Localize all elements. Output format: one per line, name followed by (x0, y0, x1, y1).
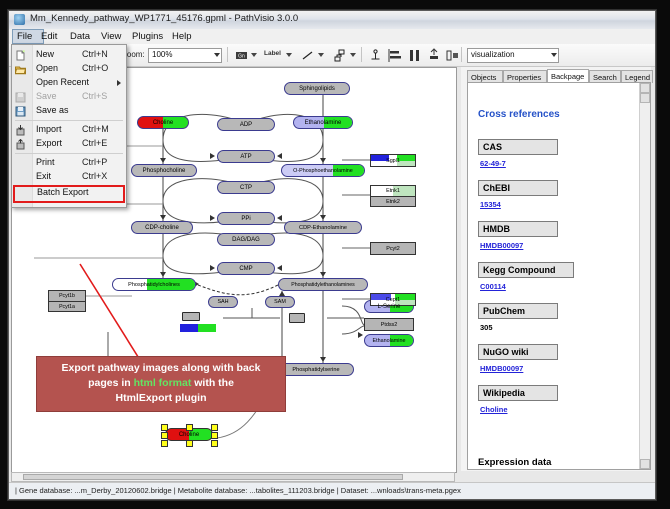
arrowhead (320, 215, 326, 220)
datanode-dropdown-arrow[interactable] (251, 53, 257, 57)
arrowhead (320, 357, 326, 362)
export-icon (15, 139, 26, 150)
canvas-hscroll-thumb[interactable] (23, 474, 403, 480)
menu-label: Exit (36, 171, 51, 181)
node-choline[interactable]: Choline (137, 116, 189, 129)
shape-dropdown-arrow[interactable] (350, 53, 356, 57)
arrowhead (160, 215, 166, 220)
menu-item-save-as[interactable]: Save as (12, 104, 126, 118)
arrowhead (210, 215, 215, 221)
arrowhead (277, 215, 282, 221)
zoom-select[interactable]: 100% (148, 48, 222, 63)
xref-label-nugo: NuGO wiki (478, 344, 558, 360)
menu-edit[interactable]: Edit (37, 30, 61, 43)
node-cmp[interactable]: CMP (217, 262, 275, 275)
menu-shortcut: Ctrl+O (82, 63, 108, 73)
callout-line2-a: pages in (88, 377, 134, 389)
arrowhead (320, 158, 326, 163)
line-dropdown-arrow[interactable] (318, 53, 324, 57)
selection-handle[interactable] (211, 432, 218, 439)
visualization-value: visualization (471, 50, 515, 59)
menu-item-save: Save Ctrl+S (12, 90, 126, 104)
menu-shortcut: Ctrl+S (82, 91, 107, 101)
menu-item-open-recent[interactable]: Open Recent (12, 76, 126, 90)
node-choline-selected[interactable]: Choline (165, 428, 213, 441)
zoom-value: 100% (152, 50, 172, 59)
node-atp[interactable]: ATP (217, 150, 275, 163)
window-titlebar: Mm_Kennedy_pathway_WP1771_45176.gpml - P… (9, 11, 655, 30)
xref-value-pubchem: 305 (480, 323, 493, 332)
node-phosphatidylethanolamines[interactable]: Phosphatidylethanolamines (278, 278, 368, 291)
menu-shortcut: Ctrl+P (82, 157, 107, 167)
menu-label: Open (36, 63, 58, 73)
window-title: Mm_Kennedy_pathway_WP1771_45176.gpml - P… (30, 13, 298, 24)
selection-handle[interactable] (186, 440, 193, 447)
group-icon[interactable] (444, 47, 461, 64)
callout-text: Export pathway images along with back pa… (42, 361, 280, 406)
arrowhead (210, 153, 215, 159)
gene-ptdss2[interactable]: Ptdss2 (364, 318, 414, 331)
menu-label: Print (36, 157, 55, 167)
menu-plugins[interactable]: Plugins (128, 30, 167, 43)
tab-backpage[interactable]: Backpage (547, 69, 589, 83)
menu-separator (15, 153, 123, 154)
menu-shortcut: Ctrl+M (82, 124, 109, 134)
file-menu-popup[interactable]: New Ctrl+N Open Ctrl+O Open Recent Save … (11, 44, 127, 208)
node-phosphatidylserine[interactable]: Phosphatidylserine (278, 363, 354, 376)
label-dropdown-arrow[interactable] (286, 53, 292, 57)
backpage-scrollbar[interactable] (639, 83, 650, 469)
align-center-icon[interactable] (406, 47, 423, 64)
node-ethanolamine[interactable]: Ethanolamine (293, 116, 353, 129)
arrowhead (210, 265, 215, 271)
selection-handle[interactable] (211, 440, 218, 447)
arrowhead (160, 272, 166, 277)
anchor-icon[interactable] (367, 47, 384, 64)
callout-line1: Export pathway images along with back (62, 362, 261, 374)
shape-icon[interactable] (331, 47, 348, 64)
xref-label-pubchem: PubChem (478, 303, 558, 319)
xref-value-kegg[interactable]: C00114 (480, 282, 506, 291)
folder-open-icon (15, 64, 26, 75)
selection-handle[interactable] (161, 432, 168, 439)
xref-value-cas[interactable]: 62-49-7 (480, 159, 506, 168)
node-dag[interactable]: DAG/DAG (217, 233, 275, 246)
gene-etnk2[interactable]: Etnk2 (370, 196, 416, 207)
node-sam[interactable]: SAM (265, 296, 295, 308)
xref-value-wikipedia[interactable]: Choline (480, 405, 508, 414)
gene-pcyt2[interactable]: Pcyt2 (370, 242, 416, 255)
menu-label: Open Recent (36, 77, 89, 87)
annotation-callout: Export pathway images along with back pa… (36, 356, 286, 412)
menu-view[interactable]: View (97, 30, 125, 43)
import-icon (15, 125, 26, 136)
xref-value-chebi[interactable]: 15354 (480, 200, 501, 209)
callout-line2-highlight: html format (134, 377, 192, 389)
node-ppi[interactable]: PPi (217, 212, 275, 225)
align-left-icon[interactable] (387, 47, 404, 64)
xref-label-hmdb: HMDB (478, 221, 558, 237)
menu-separator (15, 120, 123, 121)
arrowhead (160, 158, 166, 163)
menu-item-print[interactable]: Print Ctrl+P (12, 156, 126, 170)
node-adp[interactable]: ADP (217, 118, 275, 131)
statusbar-text: | Gene database: ...m_Derby_20120602.bri… (15, 486, 461, 495)
arrowhead (277, 153, 282, 159)
selection-handle[interactable] (161, 440, 168, 447)
gene-pcyt1b[interactable]: Pcyt1b (48, 290, 86, 301)
label-tool-label[interactable]: Label (264, 50, 281, 57)
selection-handle[interactable] (161, 424, 168, 431)
node-cdp-choline[interactable]: CDP-choline (131, 221, 193, 234)
xref-label-wikipedia: Wikipedia (478, 385, 558, 401)
chevron-down-icon (214, 53, 220, 57)
menu-shortcut: Ctrl+N (82, 49, 108, 59)
arrowhead (277, 265, 282, 271)
menu-data[interactable]: Data (66, 30, 94, 43)
node-sah[interactable]: SAH (208, 296, 238, 308)
menu-item-import[interactable]: Import Ctrl+M (12, 123, 126, 137)
node-ethanolamine-2[interactable]: Ethanolamine (364, 334, 414, 347)
scroll-up-button[interactable] (640, 83, 650, 93)
callout-line3: HtmlExport plugin (116, 392, 207, 404)
selection-handle[interactable] (186, 424, 193, 431)
chevron-right-icon (117, 80, 121, 86)
xref-value-hmdb[interactable]: HMDB00097 (480, 241, 523, 250)
visualization-select[interactable]: visualization (467, 48, 559, 63)
menu-label: New (36, 49, 54, 59)
xref-value-nugo[interactable]: HMDB00097 (480, 364, 523, 373)
menu-item-export[interactable]: Export Ctrl+E (12, 137, 126, 151)
screenshot-root: Mm_Kennedy_pathway_WP1771_45176.gpml - P… (0, 0, 670, 509)
node-sphingolipids[interactable]: Sphingolipids (284, 82, 350, 95)
menubar: File Edit Data View Plugins Help (9, 29, 655, 45)
menu-shortcut: Ctrl+E (82, 138, 107, 148)
svg-text:Gn: Gn (238, 54, 245, 60)
menu-item-open[interactable]: Open Ctrl+O (12, 62, 126, 76)
side-panel-tabs: Objects Properties Backpage Search Legen… (467, 69, 651, 83)
menu-shortcut: Ctrl+X (82, 171, 107, 181)
side-panel: Objects Properties Backpage Search Legen… (461, 67, 651, 471)
distribute-icon[interactable] (425, 47, 442, 64)
backpage-content: Cross references CAS 62-49-7 ChEBI 15354… (467, 82, 651, 470)
xref-label-cas: CAS (478, 139, 558, 155)
menu-label: Export (36, 138, 62, 148)
node-o-phosphoethanolamine[interactable]: O-Phosphoethanolamine (281, 164, 365, 177)
scroll-thumb[interactable] (640, 93, 650, 103)
node-phosphocholine[interactable]: Phosphocholine (131, 164, 197, 177)
menu-help[interactable]: Help (168, 30, 196, 43)
interaction-box (182, 312, 200, 321)
menu-item-new[interactable]: New Ctrl+N (12, 48, 126, 62)
node-ctp[interactable]: CTP (217, 181, 275, 194)
menu-item-exit[interactable]: Exit Ctrl+X (12, 170, 126, 184)
canvas-hscrollbar[interactable] (11, 472, 455, 482)
xref-label-chebi: ChEBI (478, 180, 558, 196)
menu-label: Import (36, 124, 62, 134)
arrowhead (320, 272, 326, 277)
expression-data-heading: Expression data (478, 457, 551, 468)
callout-line2-b: with the (191, 377, 234, 389)
pathvisio-icon (14, 14, 25, 25)
line-icon[interactable] (299, 47, 316, 64)
arrowhead (358, 332, 363, 338)
gene-sgpl1[interactable]: Sgpl1 (370, 154, 416, 167)
menu-label: Save as (36, 105, 69, 115)
xref-label-kegg: Kegg Compound (478, 262, 574, 278)
new-document-icon (15, 50, 26, 61)
selection-handle[interactable] (211, 424, 218, 431)
node-phosphatidylcholines[interactable]: Phosphatidylcholines (112, 278, 196, 291)
interaction-box (289, 313, 305, 323)
menu-item-batch-export[interactable]: Batch Export (13, 185, 125, 203)
expression-swatch (180, 324, 216, 332)
scroll-down-button[interactable] (640, 459, 650, 469)
menu-label: Batch Export (37, 187, 89, 197)
menu-label: Save (36, 91, 57, 101)
save-icon (15, 92, 26, 103)
pathvisio-window: Mm_Kennedy_pathway_WP1771_45176.gpml - P… (8, 10, 656, 500)
statusbar: | Gene database: ...m_Derby_20120602.bri… (9, 482, 655, 499)
datanode-icon[interactable]: Gn (233, 47, 250, 64)
gene-etnk1[interactable]: Etnk1 (370, 185, 416, 196)
node-cdp-ethanolamine[interactable]: CDP-Ethanolamine (284, 221, 362, 234)
save-as-icon (15, 106, 26, 117)
cross-references-heading: Cross references (478, 109, 560, 120)
gene-pcyt1a[interactable]: Pcyt1a (48, 301, 86, 312)
chevron-down-icon (551, 53, 557, 57)
